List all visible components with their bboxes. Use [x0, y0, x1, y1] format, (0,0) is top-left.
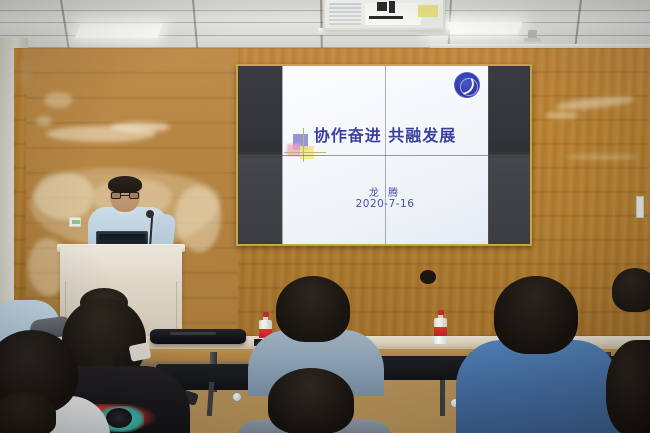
- slide-decor-line-h: [284, 152, 326, 153]
- wall-stain: [18, 60, 32, 86]
- chair-post: [440, 380, 445, 416]
- black-bag[interactable]: [150, 329, 246, 344]
- audience-person-head: [612, 268, 650, 312]
- ceiling-ac-unit: [323, 0, 445, 30]
- audience-person-head: [276, 276, 350, 342]
- glasses-icon: [111, 192, 139, 199]
- wall-stain: [44, 92, 72, 108]
- wall-stain: [110, 122, 170, 132]
- ac-indicator: [418, 5, 438, 17]
- video-wall-display[interactable]: 协作奋进 共融发展 龙 腾 2020-7-16: [236, 64, 532, 246]
- wall-socket[interactable]: [69, 217, 81, 227]
- wall-stain: [34, 172, 94, 220]
- wall-stain: [565, 155, 640, 159]
- ceiling-light: [75, 24, 163, 38]
- audience-person-head: [268, 368, 354, 433]
- ac-grille-icon: [329, 3, 361, 25]
- audience-person-head: [0, 392, 56, 433]
- chair-post: [207, 382, 214, 416]
- wall-stain: [36, 116, 52, 126]
- laptop-screen: [99, 234, 145, 244]
- audience-person-head: [494, 276, 578, 354]
- water-bottle[interactable]: [434, 310, 447, 344]
- wall-switch-panel[interactable]: [636, 196, 644, 218]
- bottle-label: [434, 327, 447, 336]
- microphone-icon: [146, 210, 154, 218]
- wall-stain: [545, 112, 579, 119]
- shirt-graphic: [106, 408, 132, 428]
- ceiling-speaker-icon: [528, 30, 537, 40]
- wall-stain: [175, 186, 221, 252]
- speaker-hair: [108, 176, 142, 193]
- university-emblem-icon: [454, 72, 480, 98]
- chair-knob[interactable]: [232, 392, 242, 402]
- lecture-hall-scene: 协作奋进 共融发展 龙 腾 2020-7-16 宇航学院 SCHOOL OF A…: [0, 0, 650, 433]
- audience-person-head: [420, 270, 436, 284]
